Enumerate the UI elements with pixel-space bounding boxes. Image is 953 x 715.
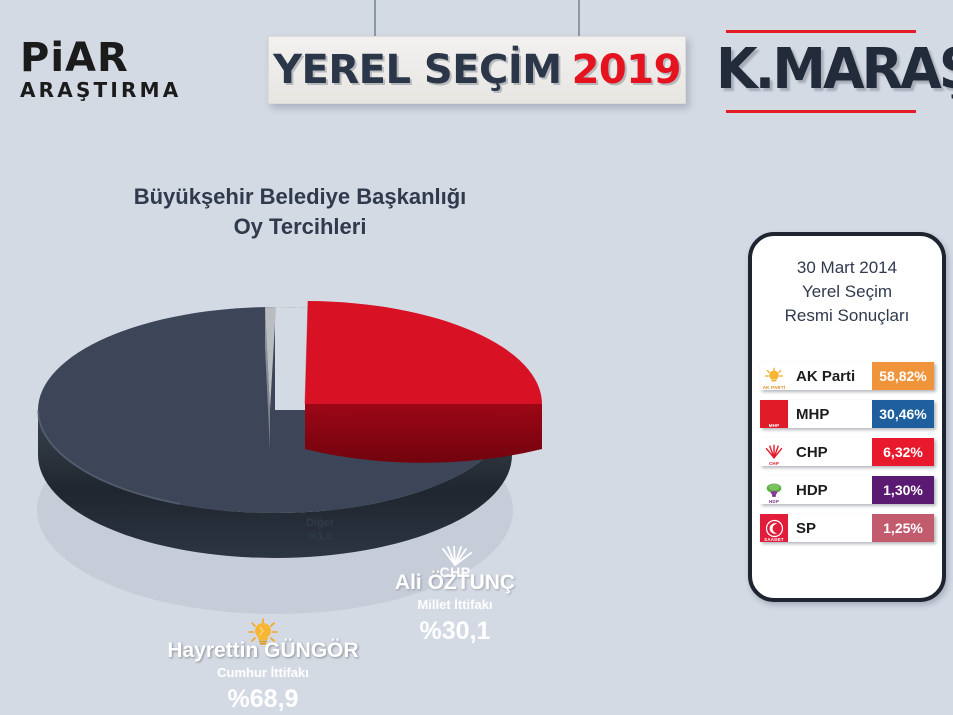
gungor-percentage: %68,9 bbox=[138, 683, 388, 715]
result-party-name: HDP bbox=[788, 476, 872, 504]
banner-label: YEREL SEÇİM bbox=[273, 50, 562, 90]
diger-percentage: %1,0 bbox=[286, 530, 354, 544]
result-party-percentage: 58,82% bbox=[872, 362, 934, 390]
city-rule-bottom bbox=[726, 110, 916, 113]
chp-logo-caption: CHP bbox=[760, 461, 788, 466]
city-rule-top bbox=[726, 30, 916, 33]
diger-slice-label: Diğer %1,0 bbox=[286, 516, 354, 544]
piar-logo-main: PiAR bbox=[20, 38, 210, 78]
result-party-name: SP bbox=[788, 514, 872, 542]
result-party-name: AK Parti bbox=[788, 362, 872, 390]
result-row-mhp: MHP MHP 30,46% bbox=[760, 400, 934, 428]
city-title-block: K.MARAŞ bbox=[716, 26, 953, 118]
results-list: AK PARTİ AK Parti 58,82% MHP MHP 30,46% bbox=[760, 362, 934, 552]
banner-string-right-icon bbox=[578, 0, 580, 38]
hdp-logo-caption: HDP bbox=[760, 499, 788, 504]
chart-title: Büyükşehir Belediye Başkanlığı Oy Tercih… bbox=[60, 182, 540, 242]
result-party-percentage: 30,46% bbox=[872, 400, 934, 428]
chart-title-line1: Büyükşehir Belediye Başkanlığı bbox=[60, 182, 540, 212]
result-party-percentage: 1,30% bbox=[872, 476, 934, 504]
result-party-name: MHP bbox=[788, 400, 872, 428]
result-party-name: CHP bbox=[788, 438, 872, 466]
pie-slice-oztunc bbox=[305, 301, 542, 463]
results-heading-line2: Yerel Seçim bbox=[752, 280, 942, 304]
official-results-card: 30 Mart 2014 Yerel Seçim Resmi Sonuçları… bbox=[748, 232, 946, 602]
results-heading-line1: 30 Mart 2014 bbox=[752, 256, 942, 280]
city-name: K.MARAŞ bbox=[716, 34, 946, 106]
piar-logo: PiAR ARAŞTIRMA bbox=[20, 38, 210, 101]
chp-logo-icon: CHP bbox=[760, 438, 788, 466]
mhp-logo-caption: MHP bbox=[760, 423, 788, 428]
gungor-slice-label: Hayrettin GÜNGÖR Cumhur İttifakı %68,9 bbox=[138, 638, 388, 715]
result-row-chp: CHP CHP 6,32% bbox=[760, 438, 934, 466]
diger-name: Diğer bbox=[286, 516, 354, 530]
ak-parti-logo-icon: AK PARTİ bbox=[760, 362, 788, 390]
results-heading-line3: Resmi Sonuçları bbox=[752, 304, 942, 328]
header-bar: PiAR ARAŞTIRMA YEREL SEÇİM 2019 K.MARAŞ bbox=[0, 0, 953, 140]
oztunc-alliance: Millet İttifakı bbox=[340, 596, 570, 614]
oztunc-slice-label: Ali ÖZTUNÇ Millet İttifakı %30,1 bbox=[340, 570, 570, 647]
pie-chart-svg bbox=[20, 250, 700, 620]
gungor-alliance: Cumhur İttifakı bbox=[138, 664, 388, 682]
mhp-logo-icon: MHP bbox=[760, 400, 788, 428]
election-banner-text: YEREL SEÇİM 2019 bbox=[269, 37, 685, 103]
result-party-percentage: 6,32% bbox=[872, 438, 934, 466]
hdp-logo-icon: HDP bbox=[760, 476, 788, 504]
banner-string-left-icon bbox=[374, 0, 376, 38]
result-row-akparti: AK PARTİ AK Parti 58,82% bbox=[760, 362, 934, 390]
chart-title-line2: Oy Tercihleri bbox=[60, 212, 540, 242]
banner-year: 2019 bbox=[572, 50, 681, 90]
sp-logo-caption: SAADET bbox=[760, 537, 788, 542]
election-banner: YEREL SEÇİM 2019 bbox=[268, 36, 686, 104]
oztunc-percentage: %30,1 bbox=[340, 615, 570, 647]
sp-logo-icon: SAADET bbox=[760, 514, 788, 542]
result-row-hdp: HDP HDP 1,30% bbox=[760, 476, 934, 504]
result-party-percentage: 1,25% bbox=[872, 514, 934, 542]
results-card-heading: 30 Mart 2014 Yerel Seçim Resmi Sonuçları bbox=[752, 256, 942, 328]
oztunc-name: Ali ÖZTUNÇ bbox=[340, 570, 570, 596]
result-row-sp: SAADET SP 1,25% bbox=[760, 514, 934, 542]
ak-parti-logo-caption: AK PARTİ bbox=[760, 385, 788, 390]
pie-chart: CHP Hayrettin GÜNGÖR Cumhur İttifakı %68… bbox=[20, 250, 700, 620]
piar-logo-sub: ARAŞTIRMA bbox=[20, 79, 210, 101]
